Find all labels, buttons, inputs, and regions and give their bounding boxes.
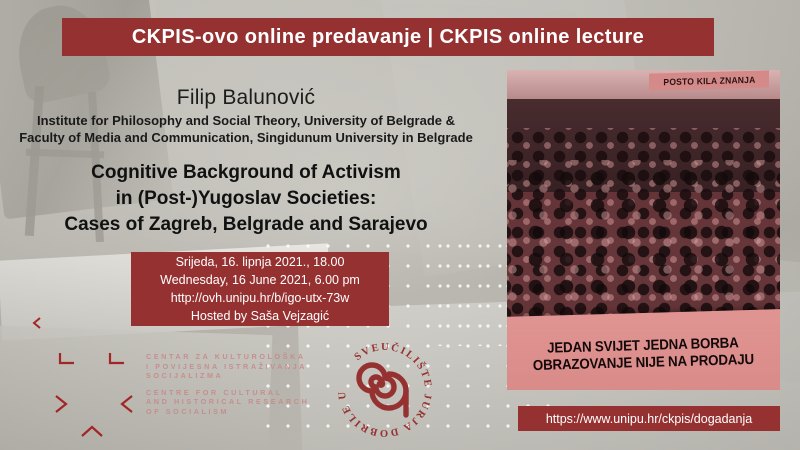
lecture-title-line-2: in (Post-)Yugoslav Societies: <box>0 186 492 212</box>
event-info-box: Srijeda, 16. lipnja 2021., 18.00 Wednesd… <box>131 252 389 326</box>
speaker-affiliation-line-2: Faculty of Media and Communication, Sing… <box>0 130 492 145</box>
protest-photo: POSTO KILA ZNANJA JEDAN SVIJET JEDNA BOR… <box>507 70 780 390</box>
ckpis-en-line-3: OF SOCIALISM <box>146 407 346 417</box>
ckpis-logo-text: CENTAR ZA KULTUROLOŠKA I POVIJESNA ISTRA… <box>146 352 346 417</box>
header-banner: CKPIS-ovo online predavanje | CKPIS onli… <box>62 18 714 56</box>
spiral-icon: SVEUČILIŠTE JURJA DOBRILE U PULI <box>333 338 437 442</box>
ckpis-hr-line-1: CENTAR ZA KULTUROLOŠKA <box>146 352 346 362</box>
lecture-title-line-3: Cases of Zagreb, Belgrade and Sarajevo <box>0 212 492 238</box>
ckpis-hr-line-3: SOCIJALIZMA <box>146 371 346 381</box>
ckpis-en-line-2: AND HISTORICAL RESEARCH <box>146 397 346 407</box>
website-url-bar[interactable]: https://www.unipu.hr/ckpis/dogadanja <box>518 406 780 431</box>
decor-bracket-2 <box>108 352 126 366</box>
event-link[interactable]: http://ovh.unipu.hr/b/igo-utx-73w <box>171 290 350 307</box>
ckpis-en-line-1: CENTRE FOR CULTURAL <box>146 388 346 398</box>
svg-text:SVEUČILIŠTE JURJA DOBRILE U PU: SVEUČILIŠTE JURJA DOBRILE U PULI <box>333 338 433 438</box>
speaker-name: Filip Balunović <box>0 86 492 110</box>
seal-circular-text: SVEUČILIŠTE JURJA DOBRILE U PULI <box>333 338 433 438</box>
lecture-title-line-1: Cognitive Background of Activism <box>0 160 492 186</box>
decor-bracket-1 <box>58 352 76 366</box>
ckpis-hr-line-2: I POVIJESNA ISTRAŽIVANJA <box>146 362 346 372</box>
header-title: CKPIS-ovo online predavanje | CKPIS onli… <box>132 26 644 49</box>
decor-bracket-5 <box>80 425 104 439</box>
event-date-en: Wednesday, 16 June 2021, 6.00 pm <box>160 272 360 289</box>
decor-bracket-3 <box>54 394 70 414</box>
website-url-text: https://www.unipu.hr/ckpis/dogadanja <box>546 412 752 426</box>
decor-bracket-4 <box>119 394 135 414</box>
lecture-title: Cognitive Background of Activism in (Pos… <box>0 160 492 238</box>
event-date-hr: Srijeda, 16. lipnja 2021., 18.00 <box>176 254 345 271</box>
event-host: Hosted by Saša Vejzagić <box>191 308 329 325</box>
university-seal-logo: SVEUČILIŠTE JURJA DOBRILE U PULI <box>333 338 437 442</box>
decor-bracket-6 <box>32 316 42 330</box>
speaker-affiliation-line-1: Institute for Philosophy and Social Theo… <box>0 113 492 128</box>
poster-canvas: CKPIS-ovo online predavanje | CKPIS onli… <box>0 0 800 450</box>
